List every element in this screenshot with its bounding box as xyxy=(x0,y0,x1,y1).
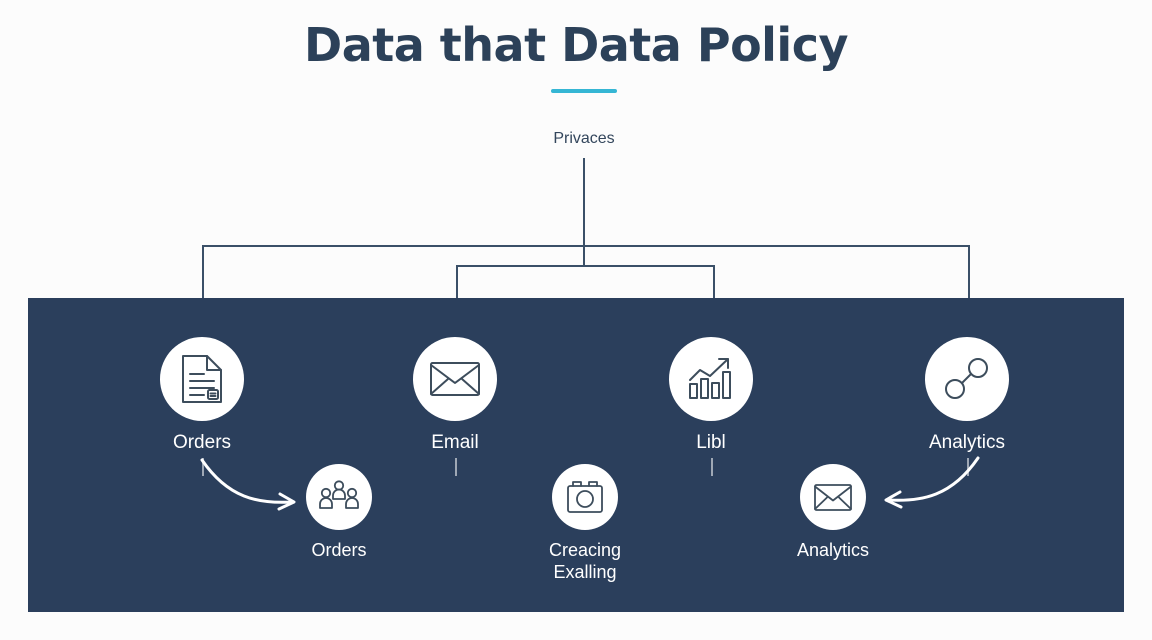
inner-bracket-leg-right xyxy=(713,265,715,299)
node-creacing-exalling[interactable]: Creacing Exalling xyxy=(500,464,670,584)
envelope-icon xyxy=(800,464,866,530)
node-stub-email xyxy=(455,458,457,476)
node-analytics-network[interactable]: Analytics xyxy=(877,337,1057,454)
title-accent-rule xyxy=(551,89,617,93)
bar-chart-growth-icon xyxy=(669,337,753,421)
envelope-icon xyxy=(413,337,497,421)
page-title: Data that Data Policy xyxy=(0,18,1152,72)
orders-flow-arrow xyxy=(200,452,310,512)
analytics-flow-arrow xyxy=(868,450,980,512)
document-icon xyxy=(160,337,244,421)
inner-bracket-horizontal xyxy=(456,265,714,267)
node-label: Orders xyxy=(254,540,424,562)
node-label: Libl xyxy=(621,431,801,454)
outer-bracket-leg-right xyxy=(968,245,970,299)
node-label: Creacing Exalling xyxy=(500,540,670,584)
node-stub-libl xyxy=(711,458,713,476)
camera-icon xyxy=(552,464,618,530)
node-label: Email xyxy=(365,431,545,454)
root-connector-vertical xyxy=(583,158,585,265)
root-node-label: Privaces xyxy=(484,130,684,148)
users-group-icon xyxy=(306,464,372,530)
node-label: Orders xyxy=(112,431,292,454)
node-email[interactable]: Email xyxy=(365,337,545,454)
node-label: Analytics xyxy=(748,540,918,562)
outer-bracket-horizontal xyxy=(202,245,970,247)
diagram-canvas: Data that Data Policy Privaces Orders xyxy=(0,0,1152,640)
inner-bracket-leg-left xyxy=(456,265,458,299)
node-orders-document[interactable]: Orders xyxy=(112,337,292,454)
node-libl[interactable]: Libl xyxy=(621,337,801,454)
share-network-icon xyxy=(925,337,1009,421)
outer-bracket-leg-left xyxy=(202,245,204,299)
